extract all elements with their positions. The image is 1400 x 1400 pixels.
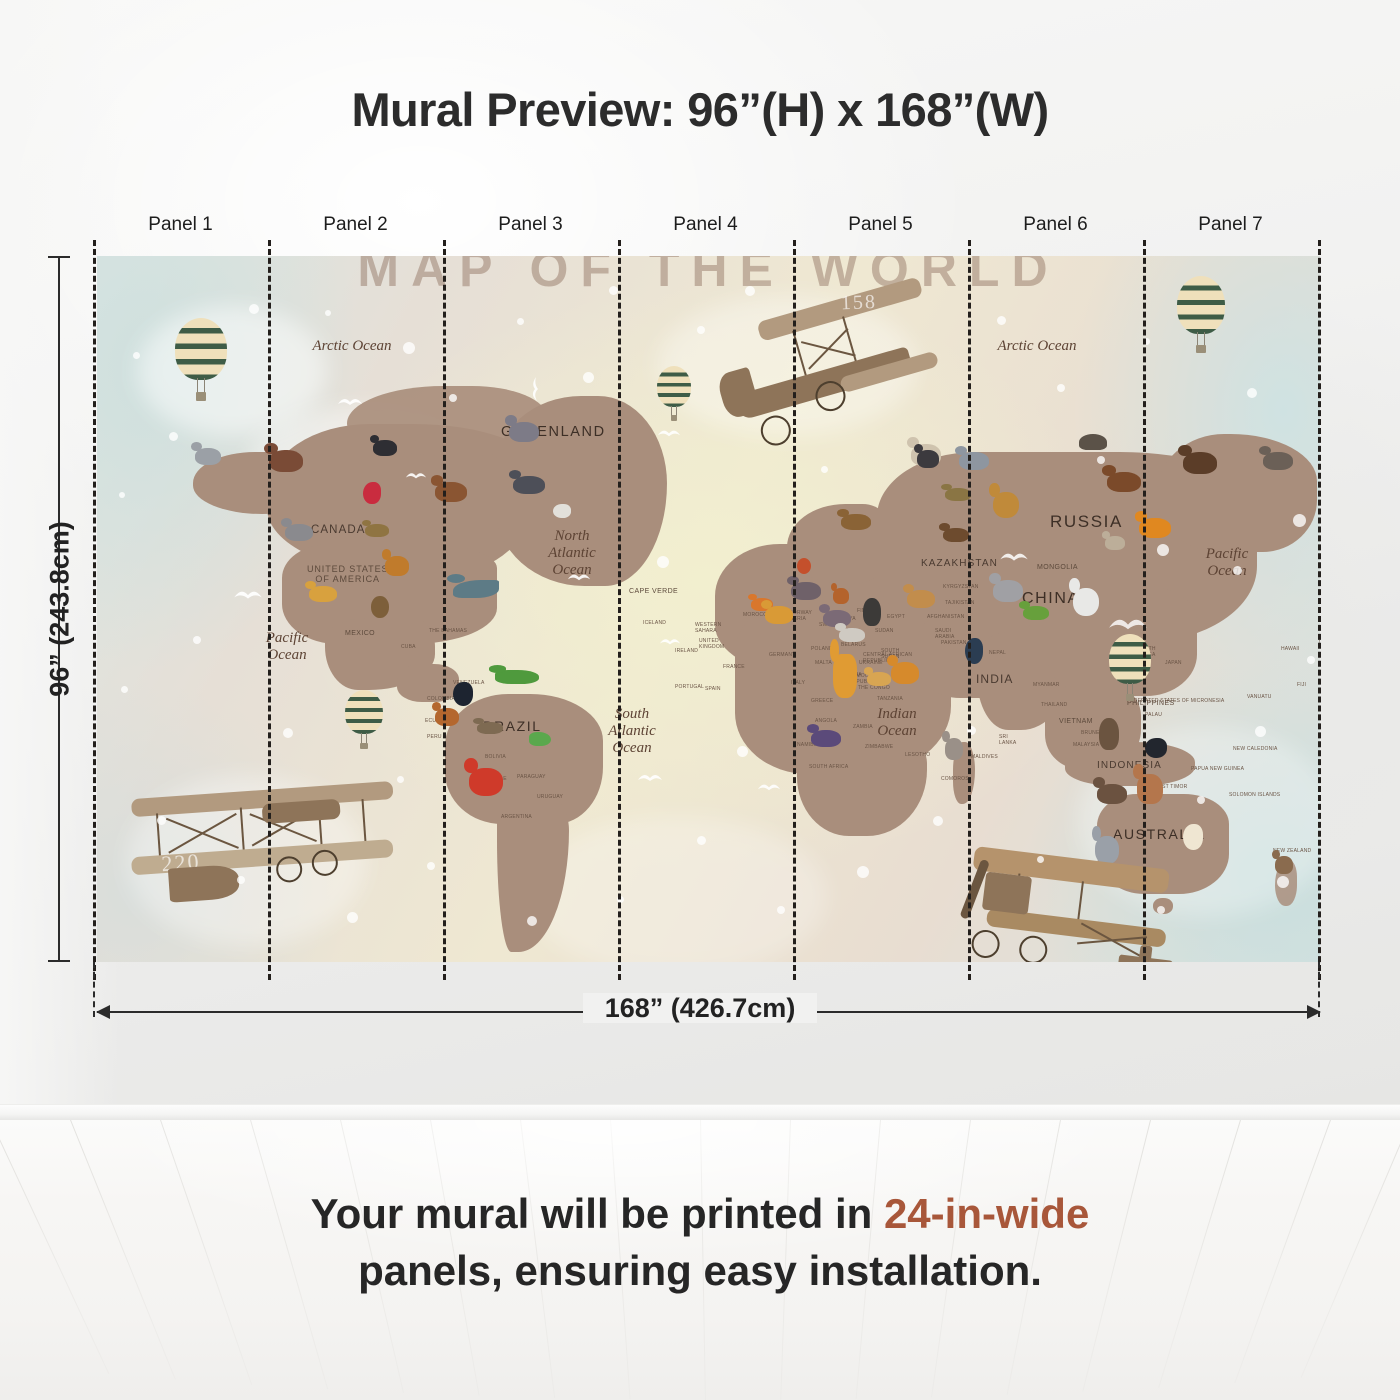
- width-dimension-label-wrap: 168” (426.7cm): [0, 993, 1400, 1024]
- footer-line-2: panels, ensuring easy installation.: [0, 1243, 1400, 1300]
- panel-label-2: Panel 2: [268, 214, 443, 236]
- panel-label-1: Panel 1: [93, 214, 268, 236]
- page-title: Mural Preview: 96”(H) x 168”(W): [0, 82, 1400, 137]
- panel-divider: [1143, 240, 1146, 980]
- width-tick-right: [1318, 962, 1320, 1017]
- panel-dividers: [93, 240, 1320, 980]
- width-tick-left: [93, 962, 95, 1017]
- panel-label-7: Panel 7: [1143, 214, 1318, 236]
- panel-labels-row: Panel 1 Panel 2 Panel 3 Panel 4 Panel 5 …: [93, 214, 1320, 242]
- footer-highlight: 24-in-wide: [884, 1190, 1089, 1237]
- dimension-cap-top: [48, 256, 70, 258]
- dimension-cap-bottom: [48, 960, 70, 962]
- footer-note: Your mural will be printed in 24-in-wide…: [0, 1186, 1400, 1299]
- panel-divider: [618, 240, 621, 980]
- panel-divider: [443, 240, 446, 980]
- panel-label-6: Panel 6: [968, 214, 1143, 236]
- panel-label-4: Panel 4: [618, 214, 793, 236]
- panel-label-5: Panel 5: [793, 214, 968, 236]
- width-dimension-label: 168” (426.7cm): [583, 993, 818, 1023]
- room-scene: Mural Preview: 96”(H) x 168”(W) Panel 1 …: [0, 0, 1400, 1120]
- height-dimension-label: 96” (243.8cm): [45, 521, 76, 697]
- panel-divider: [268, 240, 271, 980]
- panel-label-3: Panel 3: [443, 214, 618, 236]
- footer-line-1-text: Your mural will be printed in: [311, 1190, 884, 1237]
- panel-divider: [968, 240, 971, 980]
- panel-divider: [1318, 240, 1321, 980]
- panel-divider: [793, 240, 796, 980]
- panel-divider: [93, 240, 96, 980]
- baseboard: [0, 1104, 1400, 1120]
- footer-line-1: Your mural will be printed in 24-in-wide: [0, 1186, 1400, 1243]
